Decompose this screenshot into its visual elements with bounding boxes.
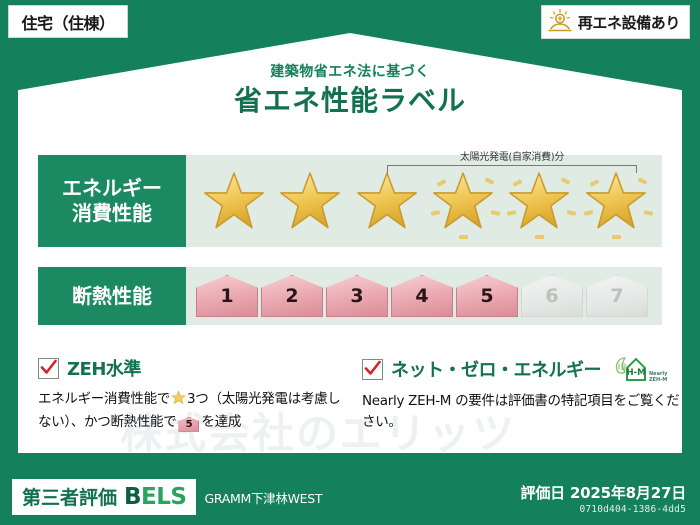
insulation-grade-badge: 3	[326, 275, 388, 317]
insulation-performance-body: 1234567	[186, 267, 662, 325]
renewable-badge-label: 再エネ設備あり	[578, 12, 680, 33]
evaluation-id: 0710d404-1386-4dd5	[521, 504, 686, 515]
net-zero-energy-section: ネット・ゼロ・エネルギー H-M Nearly ZEH-M Nearly ZEH…	[362, 355, 682, 433]
energy-label-line2: 消費性能	[72, 201, 152, 226]
zeh-m-logo-sub-line2: ZEH-M	[649, 377, 667, 383]
project-name: GRAMM下津林WEST	[204, 488, 322, 507]
bels-mark-first: B	[124, 484, 141, 510]
insulation-label-text: 断熱性能	[72, 284, 152, 309]
category-tag: 住宅（住棟）	[8, 5, 128, 38]
zeh-description: エネルギー消費性能で3つ（太陽光発電は考慮しない）、かつ断熱性能で5を達成	[38, 389, 348, 433]
zeh-m-logo-sub: Nearly ZEH-M	[649, 372, 667, 383]
inline-star-icon	[171, 393, 186, 409]
zeh-checkbox[interactable]	[38, 358, 59, 379]
label-title-block: 建築物省エネ法に基づく 省エネ性能ラベル	[0, 64, 700, 117]
evaluation-date: 評価日 2025年8月27日	[521, 482, 686, 503]
insulation-grade-badge: 4	[391, 275, 453, 317]
solar-star-ray	[612, 235, 621, 239]
energy-label-line1: エネルギー	[62, 176, 162, 201]
solar-sun-icon	[547, 8, 573, 36]
footer-right: 評価日 2025年8月27日 0710d404-1386-4dd5	[521, 482, 686, 515]
zeh-title: ZEH水準	[67, 355, 141, 381]
insulation-grade-badge: 7	[586, 275, 648, 317]
insulation-performance-row: 断熱性能 1234567	[38, 267, 662, 325]
zeh-m-logo: H-M Nearly ZEH-M	[614, 355, 667, 383]
third-party-eval-label: 第三者評価	[22, 483, 117, 510]
net-zero-check-header: ネット・ゼロ・エネルギー H-M Nearly ZEH-M	[362, 355, 682, 383]
renewable-equipment-badge: 再エネ設備あり	[541, 5, 690, 39]
bels-mark: BELS	[124, 484, 186, 510]
insulation-grade-badge: 6	[521, 275, 583, 317]
energy-star-icon	[196, 155, 272, 247]
net-zero-checkbox[interactable]	[362, 359, 383, 380]
insulation-grade-group: 1234567	[196, 267, 654, 325]
solar-star-ray	[535, 235, 544, 239]
svg-text:H-M: H-M	[626, 368, 645, 378]
insulation-grade-badge: 5	[456, 275, 518, 317]
insulation-grade-badge: 1	[196, 275, 258, 317]
net-zero-description: Nearly ZEH-M の要件は評価書の特記項目をご覧ください。	[362, 391, 682, 433]
bels-plate: 第三者評価 BELS	[12, 479, 196, 515]
energy-performance-label: エネルギー 消費性能	[38, 155, 186, 247]
category-tag-label: 住宅（住棟）	[21, 10, 114, 34]
net-zero-title: ネット・ゼロ・エネルギー	[391, 356, 601, 382]
zeh-check-header: ZEH水準	[38, 355, 348, 381]
title-subtitle: 建築物省エネ法に基づく	[0, 64, 700, 81]
zeh-desc-part3: を達成	[201, 414, 241, 430]
solar-bracket-label: 太陽光発電(自家消費)分	[387, 152, 637, 163]
bels-mark-rest: ELS	[141, 484, 186, 510]
insulation-performance-label: 断熱性能	[38, 267, 186, 325]
solar-bracket-annotation: 太陽光発電(自家消費)分	[387, 152, 637, 173]
insulation-grade-badge: 2	[261, 275, 323, 317]
title-main: 省エネ性能ラベル	[0, 85, 700, 117]
zeh-standard-section: ZEH水準 エネルギー消費性能で3つ（太陽光発電は考慮しない）、かつ断熱性能で5…	[38, 355, 348, 433]
energy-star-icon	[272, 155, 348, 247]
zeh-desc-part1: エネルギー消費性能で	[38, 391, 170, 407]
solar-star-ray	[459, 235, 468, 239]
inline-grade-badge: 5	[178, 417, 199, 432]
solar-bracket-line	[387, 165, 637, 173]
bels-energy-label: 住宅（住棟） 再エネ設備あり 建築物省エネ法に基づく 省エネ性能ラベル	[0, 0, 700, 525]
footer-left: 第三者評価 BELS GRAMM下津林WEST	[12, 479, 322, 515]
